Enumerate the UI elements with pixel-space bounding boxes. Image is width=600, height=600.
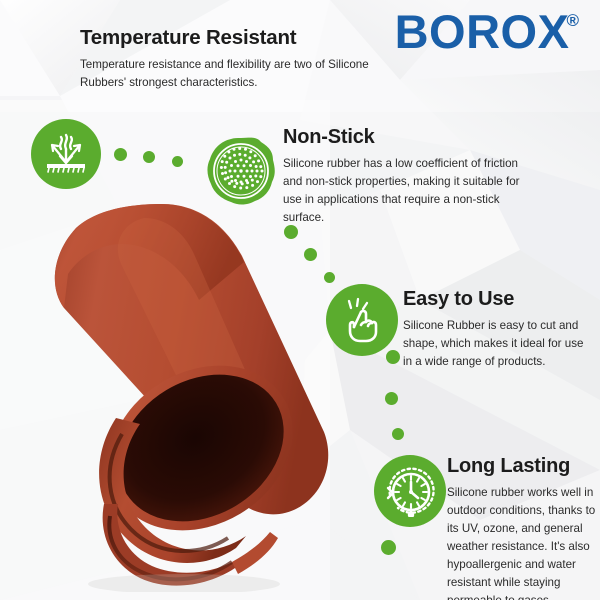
perforated-disc-icon <box>206 136 276 206</box>
clock-history-icon <box>374 455 446 527</box>
connector-dot <box>381 540 396 555</box>
pointing-hand-icon <box>326 284 398 356</box>
connector-dot <box>284 225 298 239</box>
feature-body: Silicone rubber has a low coefficient of… <box>283 155 538 227</box>
feature-temperature-resistant: Temperature Resistant Temperature resist… <box>80 26 380 92</box>
roll-free-end <box>232 532 278 574</box>
feature-easy-to-use: Easy to Use Silicone Rubber is easy to c… <box>403 288 593 371</box>
feature-title: Temperature Resistant <box>80 26 380 50</box>
registered-trademark-icon: ® <box>566 11 579 30</box>
connector-dot <box>386 350 400 364</box>
connector-dot <box>143 151 155 163</box>
infographic-canvas: BOROX® <box>0 0 600 600</box>
feature-body: Temperature resistance and flexibility a… <box>80 56 380 92</box>
feature-non-stick: Non-Stick Silicone rubber has a low coef… <box>283 126 538 227</box>
product-shadow <box>88 574 280 592</box>
connector-dot <box>172 156 183 167</box>
connector-dot <box>324 272 335 283</box>
connector-dot <box>304 248 317 261</box>
feature-title: Easy to Use <box>403 288 593 311</box>
feature-body: Silicone rubber works well in outdoor co… <box>447 484 597 600</box>
connector-dot <box>385 392 398 405</box>
heat-deflection-icon <box>31 119 101 189</box>
product-image-silicone-rubber-roll <box>0 196 334 592</box>
feature-title: Non-Stick <box>283 126 538 149</box>
connector-dot <box>114 148 127 161</box>
feature-title: Long Lasting <box>447 455 597 478</box>
brand-name: BOROX <box>395 5 570 58</box>
brand-logo: BOROX® <box>395 8 582 55</box>
feature-body: Silicone Rubber is easy to cut and shape… <box>403 317 593 371</box>
feature-long-lasting: Long Lasting Silicone rubber works well … <box>447 455 597 600</box>
connector-dot <box>392 428 404 440</box>
